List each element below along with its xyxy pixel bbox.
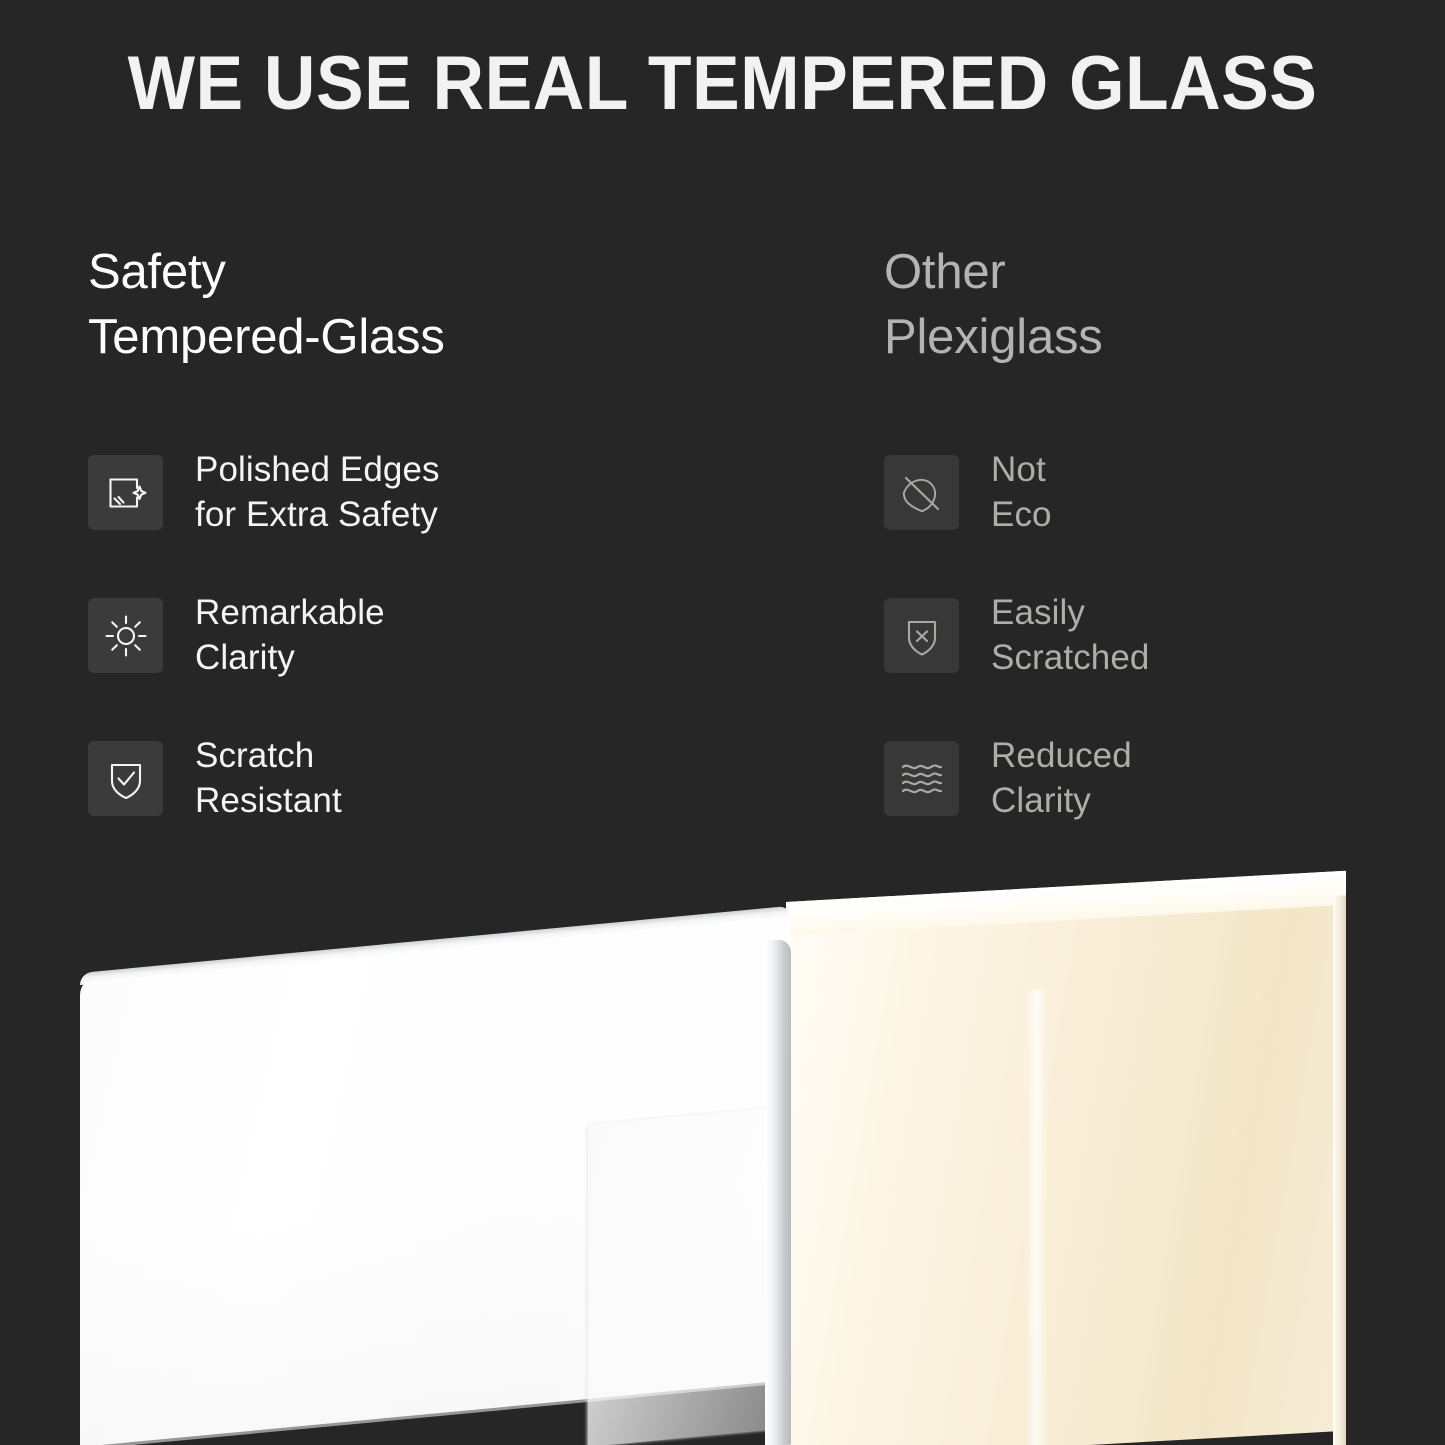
feature-row: Polished Edges for Extra Safety <box>88 455 848 530</box>
feature-row: Reduced Clarity <box>884 741 1424 816</box>
plexiglass-panel <box>786 871 1346 1445</box>
feature-row: Not Eco <box>884 455 1424 530</box>
page-title: WE USE REAL TEMPERED GLASS <box>43 44 1401 124</box>
shield-check-icon <box>88 741 163 816</box>
feature-list-tempered-glass: Polished Edges for Extra Safety Remarkab… <box>88 455 848 816</box>
feature-row: Scratch Resistant <box>88 741 848 816</box>
column-tempered-glass: Safety Tempered-Glass Polished Edges for… <box>88 240 848 370</box>
leaf-crossed-out-icon <box>884 455 959 530</box>
feature-label: Scratch Resistant <box>195 734 342 824</box>
column-title-tempered-glass: Safety Tempered-Glass <box>88 240 848 370</box>
feature-row: Remarkable Clarity <box>88 598 848 673</box>
comparison-infographic: WE USE REAL TEMPERED GLASS Safety Temper… <box>0 0 1445 1445</box>
feature-label: Remarkable Clarity <box>195 591 385 681</box>
column-plexiglass: Other Plexiglass Not Eco <box>884 240 1424 370</box>
plexiglass-panel-reflection <box>1026 989 1048 1445</box>
feature-list-plexiglass: Not Eco Easily Scratched <box>884 455 1424 816</box>
shield-x-icon <box>884 598 959 673</box>
glass-panels-photo <box>0 840 1445 1445</box>
feature-row: Easily Scratched <box>884 598 1424 673</box>
feature-label: Easily Scratched <box>991 591 1150 681</box>
polished-glass-sparkle-icon <box>88 455 163 530</box>
wavy-lines-icon <box>884 741 959 816</box>
plexiglass-panel-right-edge <box>1333 895 1346 1445</box>
feature-label: Not Eco <box>991 448 1052 538</box>
column-title-plexiglass: Other Plexiglass <box>884 240 1424 370</box>
tempered-glass-panel-right-edge <box>765 939 791 1445</box>
sun-brightness-icon <box>88 598 163 673</box>
feature-label: Polished Edges for Extra Safety <box>195 448 440 538</box>
tempered-glass-panel-reflection <box>588 1107 774 1445</box>
feature-label: Reduced Clarity <box>991 734 1132 824</box>
